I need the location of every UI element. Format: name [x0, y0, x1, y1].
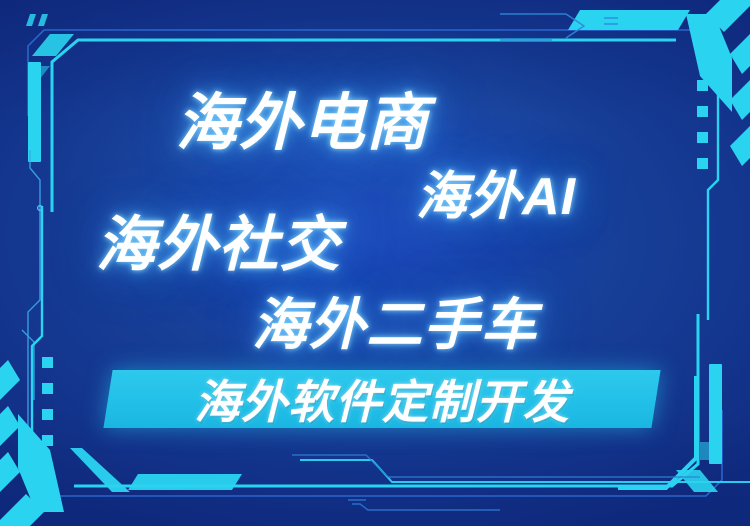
headline-ai: 海外AI: [416, 154, 576, 229]
cta-banner-label: 海外软件定制开发: [108, 370, 656, 428]
headline-ecommerce: 海外电商: [176, 72, 429, 162]
promo-banner: 海外电商 海外AI 海外社交 海外二手车 海外软件定制开发: [0, 0, 750, 526]
cta-banner-bar[interactable]: 海外软件定制开发: [103, 370, 660, 428]
headline-used-car: 海外二手车: [252, 280, 538, 361]
headline-stack: 海外电商 海外AI 海外社交 海外二手车 海外软件定制开发: [0, 0, 750, 526]
headline-social: 海外社交: [96, 196, 341, 283]
